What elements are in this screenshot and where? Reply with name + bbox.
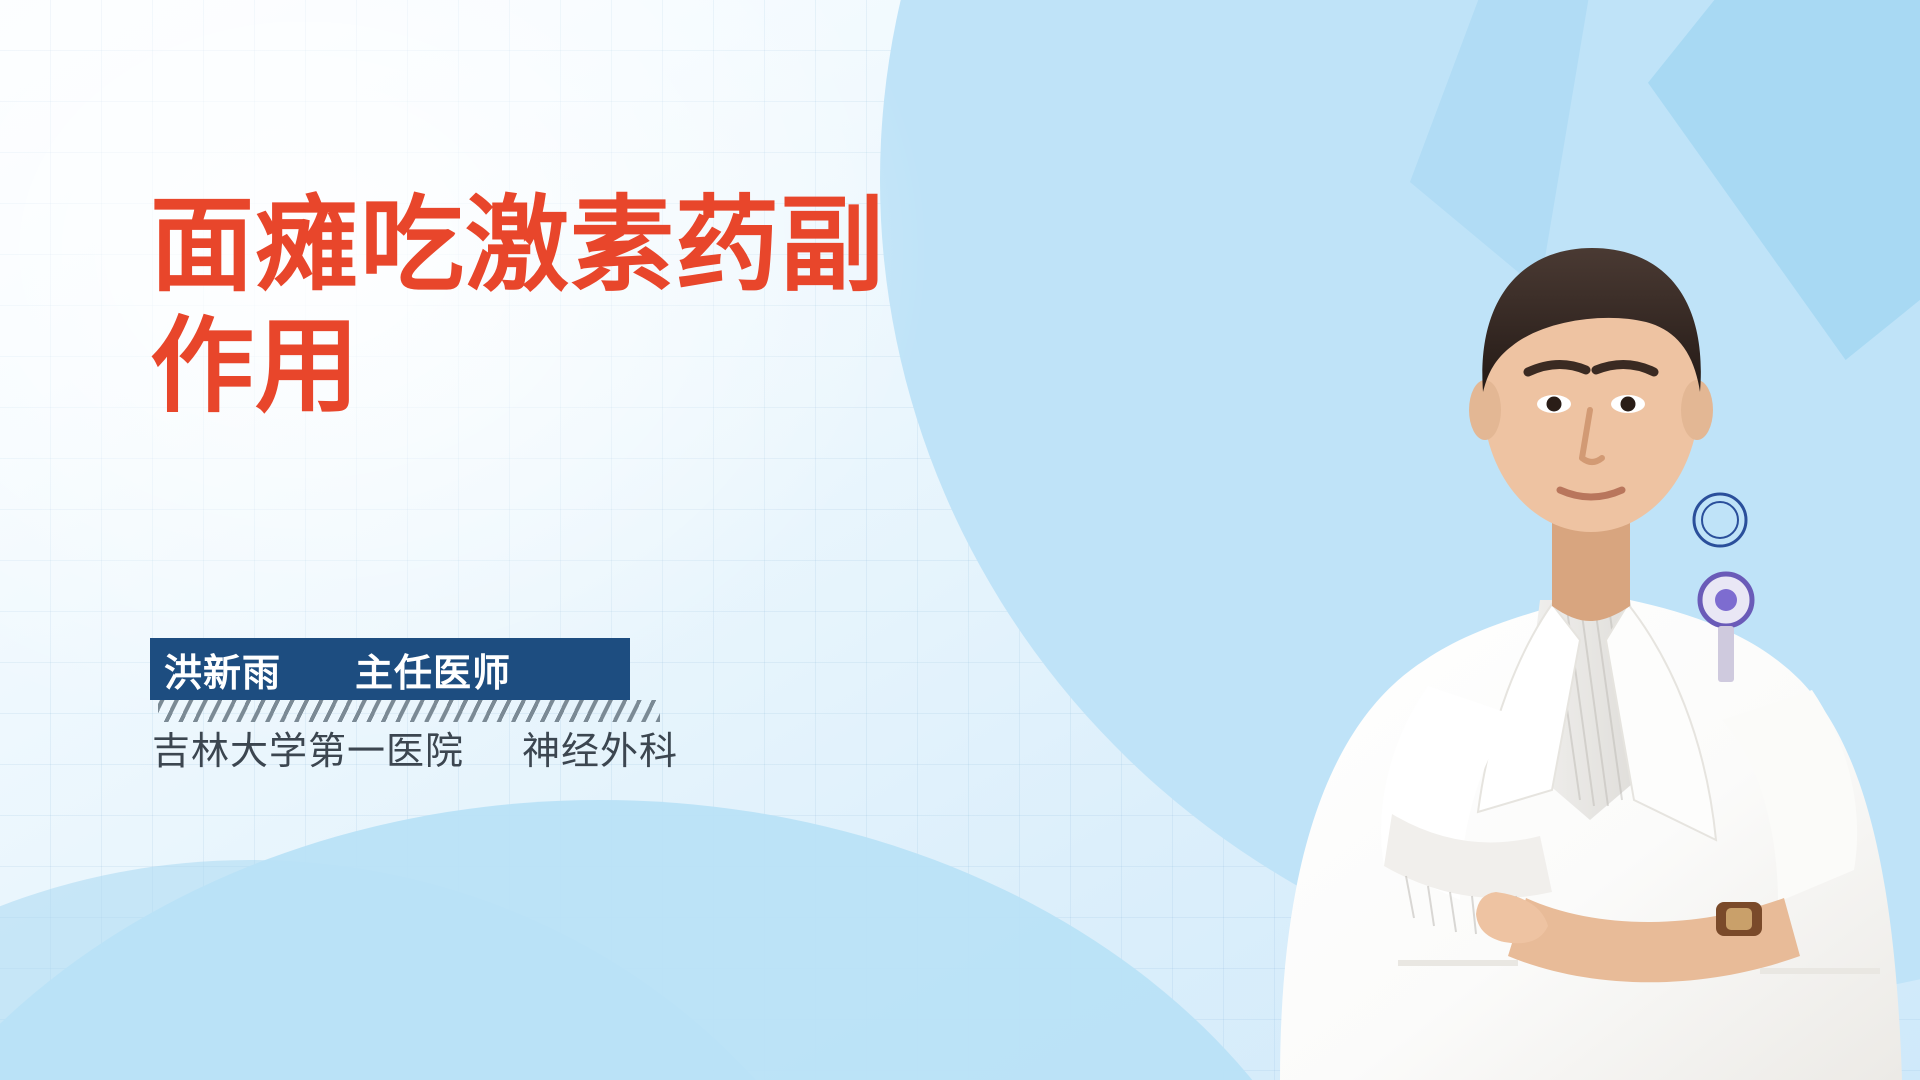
doctor-credential-block: 洪新雨 主任医师 [150,638,650,722]
doctor-name: 洪新雨 [164,642,281,697]
doctor-name-badge: 洪新雨 主任医师 [150,638,630,700]
text-content-column: 面瘫吃激素药副 作用 洪新雨 主任医师 吉林大学第一医院 神经外科 [150,0,1030,1080]
hospital-name: 吉林大学第一医院 [152,720,464,775]
doctor-portrait [1160,0,1920,1080]
doctor-rank: 主任医师 [355,642,511,697]
department-name: 神经外科 [522,720,678,775]
hatched-underline-decoration [158,700,660,722]
page-title: 面瘫吃激素药副 作用 [150,186,990,427]
doctor-affiliation: 吉林大学第一医院 神经外科 [152,720,678,775]
thumbnail-canvas: 面瘫吃激素药副 作用 洪新雨 主任医师 吉林大学第一医院 神经外科 [0,0,1920,1080]
doctor-portrait-illustration [1160,0,1920,1080]
